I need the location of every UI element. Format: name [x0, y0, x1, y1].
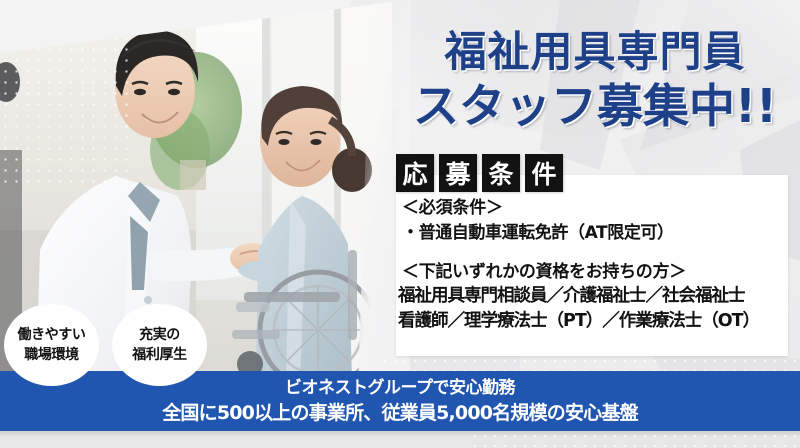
- blue-bar-shadow: [0, 431, 800, 437]
- condition-chip-4: 件: [525, 154, 563, 192]
- application-conditions-label: 応 募 条 件: [396, 154, 563, 192]
- footer-line-2: 全国に500以上の事業所、従業員5,000名規模の安心基盤: [162, 400, 638, 426]
- badge-2-line-2: 福利厚生: [132, 345, 186, 365]
- required-heading: ＜必須条件＞: [396, 196, 792, 220]
- qualification-heading: ＜下記いずれかの資格をお持ちの方＞: [396, 260, 792, 284]
- badge-1-line-1: 働きやすい: [18, 325, 86, 345]
- conditions-content: ＜必須条件＞ ・普通自動車運転免許（AT限定可） ＜下記いずれかの資格をお持ちの…: [396, 196, 792, 334]
- headline-line-2: スタッフ募集中!!: [396, 78, 794, 134]
- recruitment-banner: 福祉用具専門員 スタッフ募集中!! 応 募 条 件 ＜必須条件＞ ・普通自動車運…: [0, 0, 800, 448]
- condition-chip-2: 募: [439, 154, 477, 192]
- headline-line-1: 福祉用具専門員: [396, 26, 794, 78]
- footer-line-1: ビオネストグループで安心勤務: [285, 376, 515, 400]
- badge-1-line-2: 職場環境: [24, 345, 78, 365]
- upper-strip-dot-texture: [380, 356, 800, 371]
- badge-work-environment: 働きやすい 職場環境: [4, 304, 99, 386]
- qualification-line-1: 福祉用具専門相談員／介護福祉士／社会福祉士: [396, 284, 792, 309]
- condition-chip-1: 応: [396, 154, 434, 192]
- badge-2-line-1: 充実の: [139, 325, 180, 345]
- headline-group: 福祉用具専門員 スタッフ募集中!!: [396, 26, 794, 134]
- badge-benefits: 充実の 福利厚生: [112, 304, 207, 386]
- condition-chip-3: 条: [482, 154, 520, 192]
- required-item-1: ・普通自動車運転免許（AT限定可）: [396, 220, 792, 246]
- footer-blue-bar: ビオネストグループで安心勤務 全国に500以上の事業所、従業員5,000名規模の…: [0, 371, 800, 431]
- qualification-line-2: 看護師／理学療法士（PT）／作業療法士（OT）: [396, 309, 792, 334]
